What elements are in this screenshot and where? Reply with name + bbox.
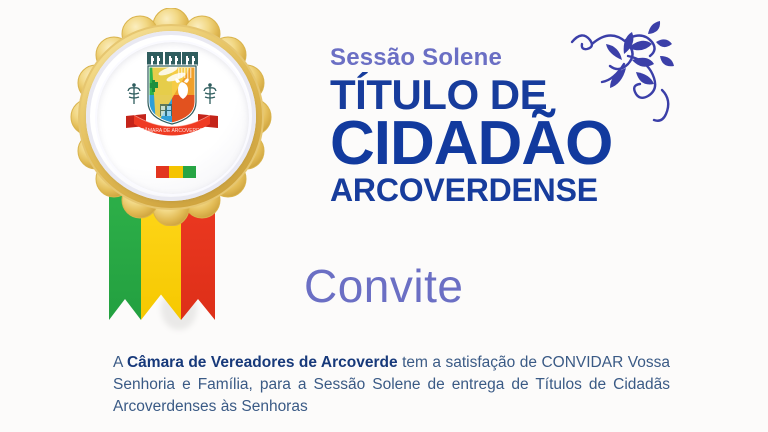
svg-text:CÂMARA DE ARCOVERDE: CÂMARA DE ARCOVERDE (141, 127, 204, 134)
kicker-text: Sessão Solene (330, 46, 750, 70)
emblem-tricolor-bars (156, 166, 196, 178)
title-block: Sessão Solene TÍTULO DE CIDADÃO ARCOVERD… (330, 46, 750, 206)
title-line-3: ARCOVERDENSE (330, 174, 750, 206)
emblem-medal: CÂMARA DE ARCOVERDE (56, 2, 286, 342)
emblem-banner: CÂMARA DE ARCOVERDE (124, 112, 220, 146)
invitation-canvas: CÂMARA DE ARCOVERDE (0, 0, 768, 432)
subtitle-convite: Convite (304, 263, 463, 309)
body-organization: Câmara de Vereadores de Arcoverde (127, 354, 398, 371)
coat-of-arms: CÂMARA DE ARCOVERDE (130, 50, 214, 168)
body-lead: A (113, 354, 127, 371)
caduceus-icon-right (200, 82, 220, 106)
invitation-body: A Câmara de Vereadores de Arcoverde tem … (113, 352, 670, 418)
caduceus-icon-left (124, 82, 144, 106)
title-line-2: CIDADÃO (330, 115, 750, 172)
